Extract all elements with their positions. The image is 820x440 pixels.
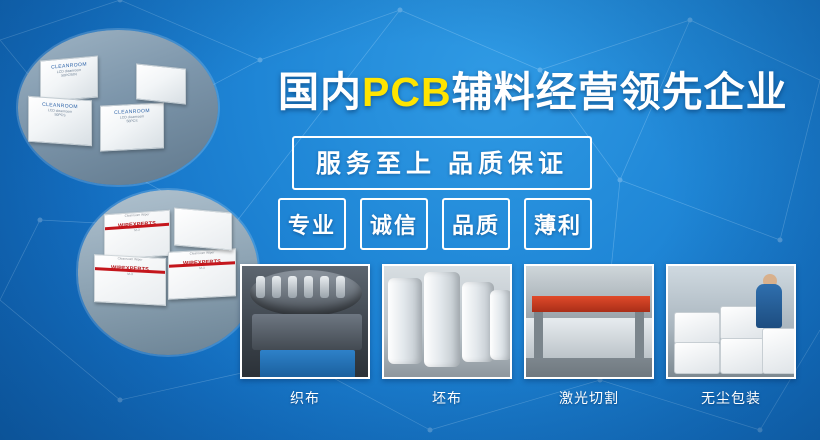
subtitle-box: 服务至上 品质保证 [292,136,592,190]
thumbnail-caption: 织布 [240,388,370,408]
headline-prefix: 国内 [278,69,362,115]
headline: 国内PCB辅料经营领先企业 [278,72,798,113]
promo-banner: CLEANROOM LCD cleanroom 50PCS/IN CLEANRO… [0,0,820,440]
product-photo-cleanroom-boxes: CLEANROOM LCD cleanroom 50PCS/IN CLEANRO… [18,30,218,185]
redbox-sub-label: Cleanroom Wiper [105,211,169,219]
thumbnail-caption: 激光切割 [524,388,654,408]
feature-tag-4: 薄利 [524,198,592,250]
feature-tag-2: 诚信 [360,198,428,250]
process-thumbnail-weaving: 织布 [240,264,370,408]
headline-suffix: 辅料经营领先企业 [452,69,788,115]
process-thumbnail-list: 织布 坯布 激光切割 [240,264,796,408]
redbox-sub-label: Cleanroom Wiper [169,249,235,256]
weaving-machine-image [240,264,370,379]
packing-image [666,264,796,379]
feature-tag-1: 专业 [278,198,346,250]
process-thumbnail-laser-cutting: 激光切割 [524,264,654,408]
product-photo-wipexperts-boxes: Cleanroom Wiper WIPEXPERTS M-3 Cleanroom… [78,190,258,355]
redbox-sub-label: Cleanroom Wiper [95,255,165,263]
process-thumbnail-dustfree-packing: 无尘包装 [666,264,796,408]
feature-tag-list: 专业 诚信 品质 薄利 [278,198,592,250]
headline-highlight: PCB [362,69,452,115]
thumbnail-caption: 坯布 [382,388,512,408]
fabric-rolls-image [382,264,512,379]
feature-tag-3: 品质 [442,198,510,250]
laser-cutting-image [524,264,654,379]
thumbnail-caption: 无尘包装 [666,388,796,408]
process-thumbnail-greige-fabric: 坯布 [382,264,512,408]
